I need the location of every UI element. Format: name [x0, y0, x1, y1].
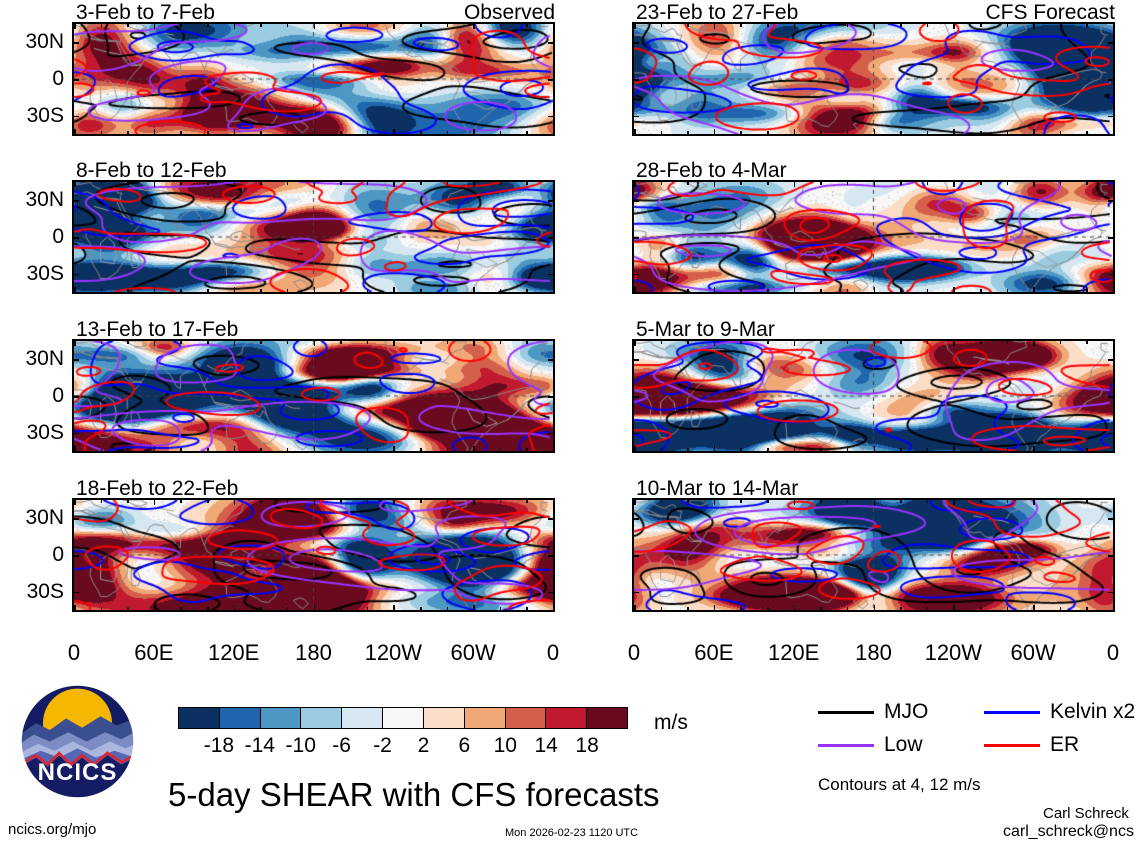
- x-tick: [473, 605, 475, 612]
- x-tick: [234, 287, 236, 294]
- x-tick: [447, 498, 449, 503]
- x-tick: [927, 180, 929, 185]
- x-axis-label-right-5: 60W: [993, 642, 1073, 664]
- x-tick: [447, 289, 449, 294]
- x-axis-label-right-1: 60E: [674, 642, 754, 664]
- y-tick: [72, 274, 79, 276]
- y-axis-label-30S: 30S: [4, 105, 64, 126]
- y-tick: [1108, 237, 1115, 239]
- x-tick: [393, 446, 395, 453]
- x-tick: [1113, 22, 1115, 29]
- legend-line-kelvin-x2: [984, 711, 1040, 714]
- colorbar-band-5: [382, 708, 423, 728]
- x-tick: [767, 607, 769, 612]
- colorbar-band-10: [586, 708, 627, 728]
- y-axis-label-0: 0: [4, 544, 64, 565]
- y-tick: [548, 396, 555, 398]
- contours-note: Contours at 4, 12 m/s: [818, 776, 981, 793]
- x-tick: [500, 22, 502, 27]
- x-tick: [953, 446, 955, 453]
- x-tick: [314, 605, 316, 612]
- x-tick: [1060, 448, 1062, 453]
- x-tick: [1086, 289, 1088, 294]
- x-tick: [714, 287, 716, 294]
- x-axis-label-right-4: 120W: [913, 642, 993, 664]
- x-tick: [740, 22, 742, 27]
- x-tick: [847, 498, 849, 503]
- x-tick: [1033, 605, 1035, 612]
- x-tick: [420, 289, 422, 294]
- x-tick: [900, 448, 902, 453]
- x-tick: [900, 180, 902, 185]
- x-tick: [634, 605, 636, 612]
- x-tick: [234, 129, 236, 136]
- x-tick: [234, 339, 236, 346]
- x-tick: [953, 22, 955, 29]
- x-tick: [447, 339, 449, 344]
- colorbar-band-6: [423, 708, 464, 728]
- x-tick: [980, 339, 982, 344]
- panel-title-1: 3-Feb to 7-Feb: [76, 2, 215, 23]
- x-tick: [74, 22, 76, 29]
- x-tick: [393, 22, 395, 29]
- x-tick: [740, 289, 742, 294]
- x-tick: [287, 498, 289, 503]
- x-tick: [820, 498, 822, 503]
- y-tick: [632, 200, 639, 202]
- y-tick: [548, 274, 555, 276]
- x-tick: [740, 607, 742, 612]
- colorbar-band-7: [464, 708, 505, 728]
- x-tick: [393, 180, 395, 187]
- x-tick: [234, 22, 236, 29]
- x-tick: [820, 339, 822, 344]
- x-tick: [180, 339, 182, 344]
- x-tick: [740, 180, 742, 185]
- x-axis-label-left-3: 180: [274, 642, 354, 664]
- x-tick: [874, 339, 876, 346]
- x-tick: [980, 180, 982, 185]
- x-tick: [74, 180, 76, 187]
- x-tick: [207, 339, 209, 344]
- x-tick: [367, 22, 369, 27]
- map-panel-8: [634, 500, 1113, 610]
- x-tick: [634, 446, 636, 453]
- x-tick: [180, 289, 182, 294]
- y-axis-label-0: 0: [4, 385, 64, 406]
- x-tick: [847, 22, 849, 27]
- x-tick: [154, 287, 156, 294]
- x-tick: [101, 498, 103, 503]
- x-tick: [1060, 131, 1062, 136]
- x-tick: [953, 339, 955, 346]
- x-tick: [847, 448, 849, 453]
- x-axis-label-right-3: 180: [834, 642, 914, 664]
- x-tick: [393, 287, 395, 294]
- x-tick: [340, 22, 342, 27]
- x-tick: [74, 446, 76, 453]
- x-tick: [473, 339, 475, 346]
- x-tick: [127, 22, 129, 27]
- x-tick: [553, 339, 555, 346]
- y-tick: [548, 237, 555, 239]
- x-tick: [900, 22, 902, 27]
- x-tick: [500, 498, 502, 503]
- x-tick: [287, 448, 289, 453]
- x-tick: [553, 287, 555, 294]
- map-panel-5: [634, 24, 1113, 134]
- x-tick: [1033, 180, 1035, 187]
- y-axis-label-30N: 30N: [4, 31, 64, 52]
- x-tick: [874, 180, 876, 187]
- x-tick: [1113, 129, 1115, 136]
- x-tick: [1086, 448, 1088, 453]
- x-tick: [661, 131, 663, 136]
- x-tick: [287, 339, 289, 344]
- x-tick: [340, 448, 342, 453]
- y-tick: [1108, 592, 1115, 594]
- x-tick: [473, 129, 475, 136]
- x-tick: [260, 180, 262, 185]
- x-tick: [1060, 180, 1062, 185]
- x-tick: [740, 448, 742, 453]
- y-tick: [72, 592, 79, 594]
- x-tick: [447, 607, 449, 612]
- x-tick: [661, 289, 663, 294]
- map-panel-1: [74, 24, 553, 134]
- x-tick: [101, 22, 103, 27]
- x-tick: [767, 289, 769, 294]
- x-tick: [1113, 339, 1115, 346]
- x-tick: [927, 22, 929, 27]
- y-tick: [632, 237, 639, 239]
- x-tick: [127, 339, 129, 344]
- x-tick: [900, 131, 902, 136]
- x-tick: [154, 446, 156, 453]
- y-tick: [632, 359, 639, 361]
- colorbar-band-0: [179, 708, 219, 728]
- x-tick: [714, 605, 716, 612]
- x-tick: [1033, 498, 1035, 505]
- x-axis-label-right-0: 0: [594, 642, 674, 664]
- x-tick: [634, 287, 636, 294]
- x-tick: [927, 131, 929, 136]
- y-tick: [72, 555, 79, 557]
- x-tick: [127, 180, 129, 185]
- x-tick: [154, 498, 156, 505]
- x-tick: [447, 448, 449, 453]
- x-tick: [526, 22, 528, 27]
- x-tick: [874, 22, 876, 29]
- x-axis-label-left-4: 120W: [353, 642, 433, 664]
- y-tick: [632, 116, 639, 118]
- x-tick: [101, 448, 103, 453]
- y-tick: [632, 79, 639, 81]
- x-tick: [314, 446, 316, 453]
- x-tick: [101, 607, 103, 612]
- map-panel-3: [74, 341, 553, 451]
- x-axis-label-right-2: 120E: [754, 642, 834, 664]
- x-tick: [634, 129, 636, 136]
- x-tick: [714, 446, 716, 453]
- x-tick: [526, 131, 528, 136]
- map-panel-4: [74, 500, 553, 610]
- legend-label-er: ER: [1050, 734, 1079, 755]
- contact-email: carl_schreck@ncsu.edu: [1003, 824, 1135, 839]
- y-axis-label-30S: 30S: [4, 581, 64, 602]
- x-tick: [1033, 339, 1035, 346]
- x-tick: [500, 131, 502, 136]
- x-tick: [687, 339, 689, 344]
- x-tick: [847, 180, 849, 185]
- colorbar-band-2: [260, 708, 301, 728]
- y-tick: [72, 116, 79, 118]
- x-tick: [314, 339, 316, 346]
- x-tick: [714, 498, 716, 505]
- y-tick: [548, 79, 555, 81]
- x-tick: [1033, 287, 1035, 294]
- x-tick: [180, 448, 182, 453]
- legend-label-mjo: MJO: [884, 701, 928, 722]
- x-tick: [687, 180, 689, 185]
- x-tick: [927, 289, 929, 294]
- x-tick: [980, 498, 982, 503]
- x-tick: [767, 22, 769, 27]
- x-tick: [473, 446, 475, 453]
- x-tick: [900, 607, 902, 612]
- colorbar-band-3: [300, 708, 341, 728]
- x-tick: [101, 289, 103, 294]
- x-tick: [1033, 22, 1035, 29]
- x-tick: [127, 131, 129, 136]
- y-tick: [548, 518, 555, 520]
- y-tick: [1108, 200, 1115, 202]
- x-tick: [820, 180, 822, 185]
- x-tick: [553, 180, 555, 187]
- y-axis-label-0: 0: [4, 68, 64, 89]
- y-tick: [548, 555, 555, 557]
- x-tick: [180, 180, 182, 185]
- x-tick: [367, 498, 369, 503]
- x-tick: [794, 180, 796, 187]
- x-tick: [953, 287, 955, 294]
- x-tick: [687, 498, 689, 503]
- x-tick: [980, 131, 982, 136]
- x-tick: [340, 607, 342, 612]
- x-tick: [367, 339, 369, 344]
- x-tick: [553, 605, 555, 612]
- x-tick: [154, 22, 156, 29]
- x-tick: [687, 607, 689, 612]
- y-tick: [632, 396, 639, 398]
- y-axis-label-30S: 30S: [4, 422, 64, 443]
- x-tick: [393, 339, 395, 346]
- colorbar-band-1: [219, 708, 260, 728]
- x-tick: [1086, 607, 1088, 612]
- x-tick: [553, 446, 555, 453]
- x-tick: [473, 22, 475, 29]
- x-tick: [260, 131, 262, 136]
- x-tick: [207, 180, 209, 185]
- x-tick: [794, 339, 796, 346]
- legend-line-mjo: [818, 711, 874, 714]
- x-tick: [740, 131, 742, 136]
- x-tick: [340, 339, 342, 344]
- x-tick: [340, 498, 342, 503]
- x-tick: [687, 289, 689, 294]
- x-tick: [420, 22, 422, 27]
- x-tick: [927, 498, 929, 503]
- x-tick: [180, 607, 182, 612]
- column-header-left: Observed: [405, 2, 555, 23]
- x-axis-label-left-2: 120E: [194, 642, 274, 664]
- x-tick: [420, 339, 422, 344]
- x-tick: [714, 339, 716, 346]
- y-tick: [72, 79, 79, 81]
- x-tick: [1086, 131, 1088, 136]
- y-tick: [632, 592, 639, 594]
- y-axis-label-30N: 30N: [4, 348, 64, 369]
- x-tick: [420, 607, 422, 612]
- y-tick: [632, 274, 639, 276]
- x-tick: [661, 180, 663, 185]
- x-tick: [154, 180, 156, 187]
- x-tick: [1033, 129, 1035, 136]
- x-tick: [287, 289, 289, 294]
- y-tick: [72, 42, 79, 44]
- x-tick: [127, 498, 129, 503]
- x-tick: [1113, 605, 1115, 612]
- x-tick: [553, 22, 555, 29]
- x-tick: [447, 22, 449, 27]
- x-tick: [1113, 498, 1115, 505]
- x-tick: [714, 180, 716, 187]
- x-tick: [953, 605, 955, 612]
- x-tick: [207, 607, 209, 612]
- x-tick: [180, 498, 182, 503]
- panel-title-4: 18-Feb to 22-Feb: [76, 478, 238, 499]
- x-tick: [553, 129, 555, 136]
- ncics-logo-text: NCICS: [20, 759, 135, 787]
- x-tick: [687, 131, 689, 136]
- x-tick: [900, 339, 902, 344]
- x-tick: [154, 339, 156, 346]
- x-tick: [980, 607, 982, 612]
- y-tick: [1108, 274, 1115, 276]
- x-tick: [820, 289, 822, 294]
- x-tick: [526, 448, 528, 453]
- x-tick: [473, 287, 475, 294]
- x-tick: [367, 131, 369, 136]
- x-tick: [847, 131, 849, 136]
- x-tick: [767, 131, 769, 136]
- x-tick: [794, 498, 796, 505]
- legend-label-low: Low: [884, 734, 923, 755]
- x-tick: [767, 180, 769, 185]
- x-tick: [1060, 22, 1062, 27]
- x-tick: [1007, 448, 1009, 453]
- x-tick: [1086, 339, 1088, 344]
- x-tick: [500, 339, 502, 344]
- map-panel-6: [634, 182, 1113, 292]
- y-tick: [1108, 116, 1115, 118]
- x-tick: [1086, 180, 1088, 185]
- x-tick: [634, 498, 636, 505]
- legend-line-er: [984, 744, 1040, 747]
- x-tick: [447, 180, 449, 185]
- y-tick: [1108, 555, 1115, 557]
- x-tick: [287, 22, 289, 27]
- x-tick: [820, 607, 822, 612]
- y-tick: [1108, 79, 1115, 81]
- x-tick: [847, 607, 849, 612]
- x-tick: [687, 448, 689, 453]
- x-axis-label-left-5: 60W: [433, 642, 513, 664]
- x-tick: [794, 446, 796, 453]
- y-tick: [548, 116, 555, 118]
- x-tick: [447, 131, 449, 136]
- x-tick: [314, 129, 316, 136]
- y-tick: [72, 396, 79, 398]
- x-tick: [500, 448, 502, 453]
- x-tick: [820, 448, 822, 453]
- x-tick: [661, 607, 663, 612]
- x-tick: [420, 131, 422, 136]
- x-tick: [953, 180, 955, 187]
- panel-title-6: 28-Feb to 4-Mar: [636, 160, 787, 181]
- legend-line-low: [818, 744, 874, 747]
- x-tick: [1060, 607, 1062, 612]
- x-tick: [553, 498, 555, 505]
- x-tick: [367, 289, 369, 294]
- x-tick: [207, 22, 209, 27]
- site-url: ncics.org/mjo: [8, 822, 96, 837]
- colorbar-tick-9: 18: [557, 735, 617, 756]
- x-tick: [526, 607, 528, 612]
- y-tick: [548, 433, 555, 435]
- y-tick: [72, 433, 79, 435]
- x-tick: [980, 448, 982, 453]
- x-tick: [794, 22, 796, 29]
- x-axis-label-left-6: 0: [513, 642, 593, 664]
- x-tick: [234, 446, 236, 453]
- x-tick: [207, 131, 209, 136]
- y-tick: [72, 518, 79, 520]
- author-credit: Carl Schreck: [1043, 806, 1129, 821]
- x-tick: [661, 22, 663, 27]
- x-tick: [767, 339, 769, 344]
- x-tick: [260, 448, 262, 453]
- y-tick: [72, 200, 79, 202]
- x-tick: [74, 287, 76, 294]
- x-tick: [874, 605, 876, 612]
- x-tick: [154, 605, 156, 612]
- x-tick: [794, 287, 796, 294]
- x-tick: [1033, 446, 1035, 453]
- x-tick: [74, 605, 76, 612]
- x-tick: [927, 448, 929, 453]
- x-tick: [367, 448, 369, 453]
- panel-title-2: 8-Feb to 12-Feb: [76, 160, 227, 181]
- x-tick: [234, 605, 236, 612]
- x-tick: [101, 131, 103, 136]
- y-tick: [1108, 359, 1115, 361]
- x-tick: [767, 448, 769, 453]
- x-tick: [314, 287, 316, 294]
- x-tick: [74, 339, 76, 346]
- x-tick: [874, 287, 876, 294]
- x-tick: [500, 607, 502, 612]
